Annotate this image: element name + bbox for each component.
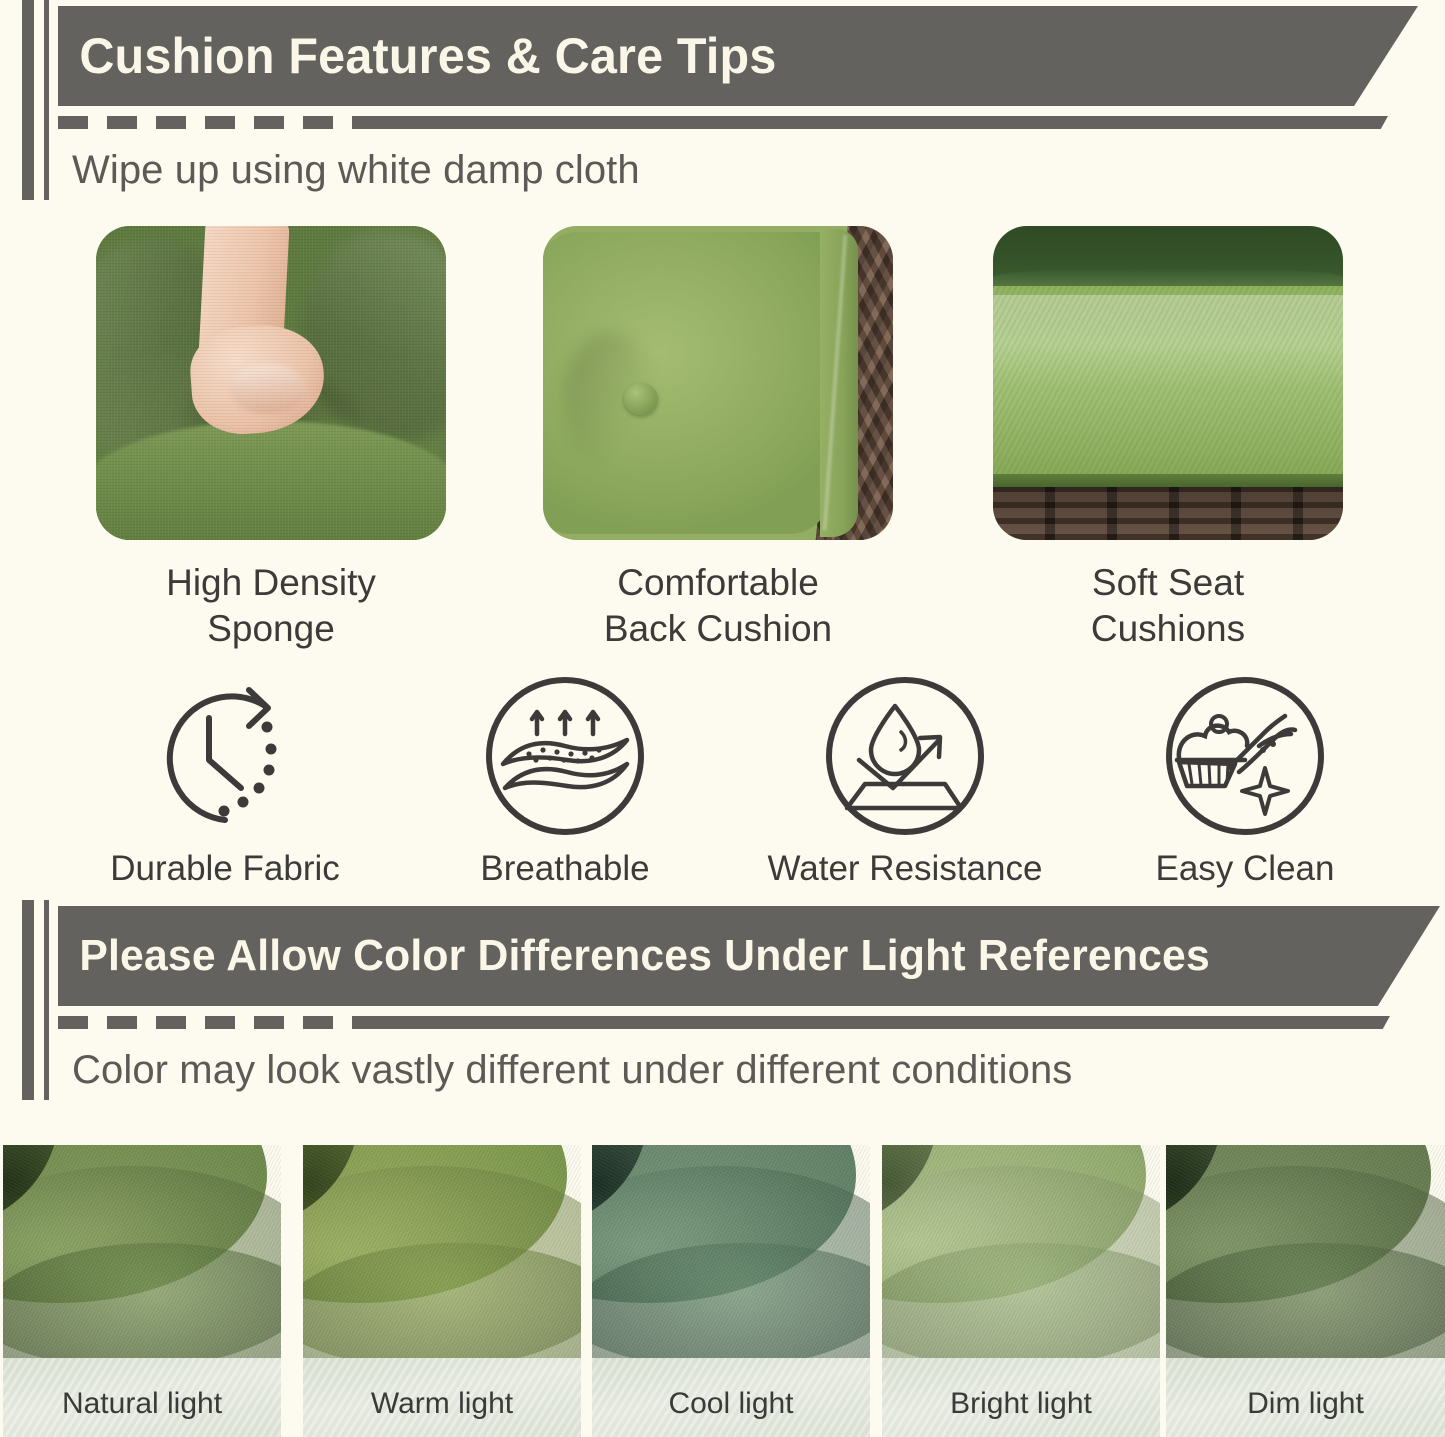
feature-water-resistance[interactable]: Water Resistance	[765, 672, 1045, 889]
card-caption-comfortable-back-cushion: Comfortable Back Cushion	[543, 560, 893, 652]
feature-label-water-resistance: Water Resistance	[765, 849, 1045, 889]
fabric-photo-bright-light	[882, 1145, 1160, 1358]
section-color-differences: Please Allow Color Differences Under Lig…	[0, 900, 1445, 1105]
card-caption-soft-seat-cushions: Soft Seat Cushions	[993, 560, 1343, 652]
feature-label-durable-fabric: Durable Fabric	[100, 849, 350, 889]
section-banner-features: Cushion Features & Care Tips	[58, 6, 1418, 106]
green-seat-cushion-photo	[993, 226, 1343, 540]
swatch-label-warm-light: Warm light	[303, 1387, 581, 1421]
swatch-label-dim-light: Dim light	[1166, 1387, 1445, 1421]
swatch-label-natural-light: Natural light	[3, 1387, 281, 1421]
brush-sparkle-icon	[1120, 672, 1370, 845]
swatch-warm-light[interactable]: Warm light	[303, 1145, 581, 1437]
swatch-label-bright-light: Bright light	[882, 1387, 1160, 1421]
water-droplet-repel-icon	[765, 672, 1045, 845]
section-subtitle-features: Wipe up using white damp cloth	[72, 148, 640, 193]
swatch-bright-light[interactable]: Bright light	[882, 1145, 1160, 1437]
card-caption-high-density-sponge: High Density Sponge	[96, 560, 446, 652]
card-high-density-sponge[interactable]	[96, 226, 446, 540]
left-rail-thin-2	[44, 900, 49, 1100]
swatch-label-cool-light: Cool light	[592, 1387, 870, 1421]
swatch-natural-light[interactable]: Natural light	[3, 1145, 281, 1437]
banner-underline-features	[58, 116, 1388, 129]
left-rail-thin	[44, 0, 49, 200]
banner-title-color: Please Allow Color Differences Under Lig…	[58, 931, 1210, 981]
swatch-dim-light[interactable]: Dim light	[1166, 1145, 1445, 1437]
green-back-cushion-photo	[543, 226, 893, 540]
color-swatch-row: Natural light Warm light	[0, 1145, 1445, 1437]
section-banner-color: Please Allow Color Differences Under Lig…	[58, 906, 1440, 1006]
section-subtitle-color: Color may look vastly different under di…	[72, 1048, 1072, 1093]
swatch-cool-light[interactable]: Cool light	[592, 1145, 870, 1437]
breathable-fabric-icon	[440, 672, 690, 845]
left-rail-thick	[22, 0, 34, 200]
feature-easy-clean[interactable]: Easy Clean	[1120, 672, 1370, 889]
fabric-photo-dim-light	[1166, 1145, 1445, 1358]
left-rail-thick-2	[22, 900, 34, 1100]
clock-arrow-icon	[100, 672, 350, 845]
feature-durable-fabric[interactable]: Durable Fabric	[100, 672, 350, 889]
feature-label-breathable: Breathable	[440, 849, 690, 889]
card-soft-seat-cushions[interactable]	[993, 226, 1343, 540]
section-features: Cushion Features & Care Tips Wipe up usi…	[0, 0, 1445, 200]
fabric-photo-natural-light	[3, 1145, 281, 1358]
feature-breathable[interactable]: Breathable	[440, 672, 690, 889]
card-comfortable-back-cushion[interactable]	[543, 226, 893, 540]
feature-label-easy-clean: Easy Clean	[1120, 849, 1370, 889]
hand-pressing-cushion-photo	[96, 226, 446, 540]
fabric-photo-warm-light	[303, 1145, 581, 1358]
banner-title-features: Cushion Features & Care Tips	[58, 27, 777, 85]
infographic-page: Cushion Features & Care Tips Wipe up usi…	[0, 0, 1445, 1437]
banner-underline-color	[58, 1016, 1390, 1029]
fabric-photo-cool-light	[592, 1145, 870, 1358]
feature-photo-cards	[0, 226, 1445, 556]
